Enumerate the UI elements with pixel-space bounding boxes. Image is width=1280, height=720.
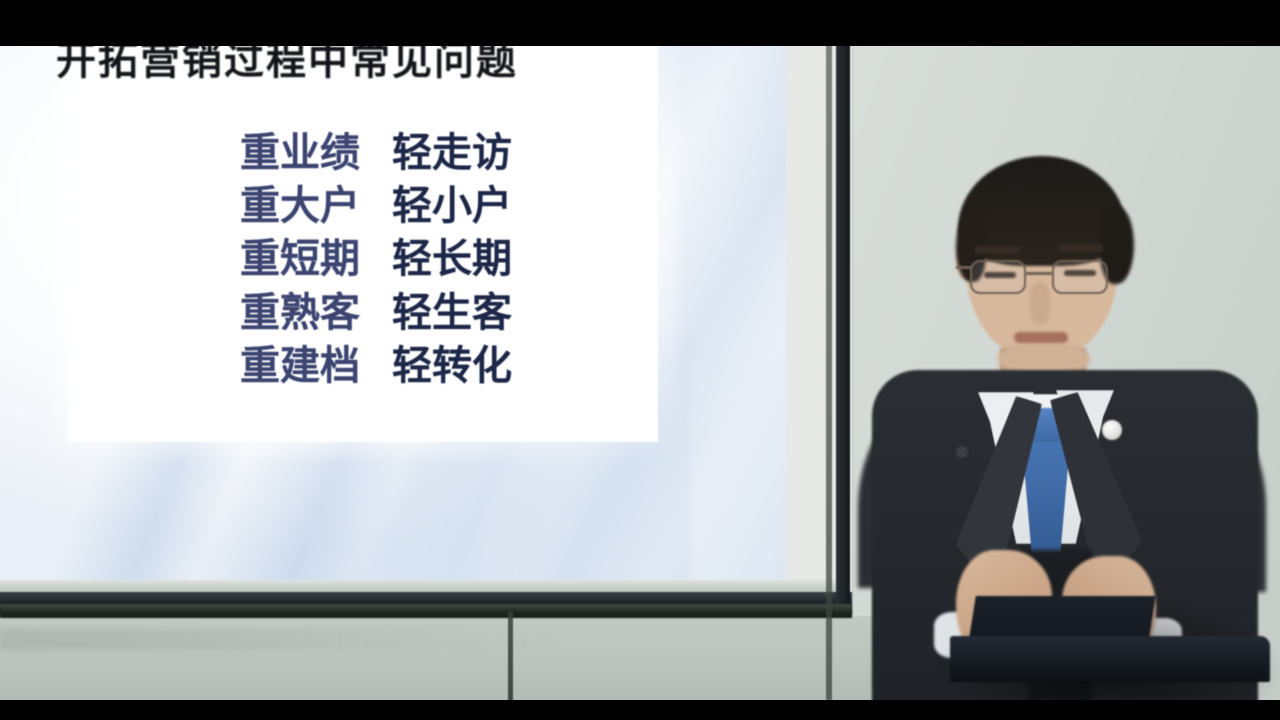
letterbox-bar-top: [0, 0, 1280, 46]
slide-line-heavy: 重短期: [240, 238, 392, 281]
suit-button: [956, 446, 968, 458]
glasses-lens-left: [970, 260, 1026, 294]
wall-smudge: [0, 628, 560, 650]
slide-line: 重业绩 轻走访: [240, 132, 512, 175]
slide-line-heavy: 重建档: [240, 345, 392, 388]
mouth: [1014, 332, 1068, 343]
slide-line: 重建档 轻转化: [240, 345, 512, 388]
laptop-base: [950, 636, 1270, 682]
slide-line: 重大户 轻小户: [240, 185, 512, 228]
wall-seam: [508, 612, 513, 707]
letterbox-bar-bottom: [0, 700, 1280, 720]
slide-line-light: 轻长期: [392, 238, 512, 281]
slide-body: 重业绩 轻走访 重大户 轻小户 重短期 轻长期 重熟客 轻生客 重建档 轻转化: [240, 132, 512, 388]
slide-line: 重短期 轻长期: [240, 238, 512, 281]
eyebrow-right: [1058, 244, 1104, 252]
glasses-bridge: [1026, 272, 1052, 275]
glasses-arm: [956, 266, 972, 269]
slide-line-light: 轻走访: [392, 132, 512, 175]
eyebrow-left: [974, 246, 1020, 254]
glasses-lens-right: [1052, 260, 1108, 294]
slide-line-heavy: 重业绩: [240, 132, 392, 175]
slide-line-light: 轻转化: [392, 345, 512, 388]
screen-rail: [0, 604, 852, 618]
nose: [1030, 282, 1050, 324]
slide-line-light: 轻生客: [392, 292, 512, 335]
lecture-scene: 开拓营销过程中常见问题 重业绩 轻走访 重大户 轻小户 重短期 轻长期 重熟客 …: [0, 0, 1280, 720]
slide-line-light: 轻小户: [392, 185, 512, 228]
lapel-pin-icon: [1102, 420, 1122, 440]
wall-corner-seam: [826, 0, 832, 700]
slide-line-heavy: 重熟客: [240, 292, 392, 335]
video-frame: 开拓营销过程中常见问题 重业绩 轻走访 重大户 轻小户 重短期 轻长期 重熟客 …: [0, 0, 1280, 720]
slide-line-heavy: 重大户: [240, 185, 392, 228]
slide-line: 重熟客 轻生客: [240, 292, 512, 335]
